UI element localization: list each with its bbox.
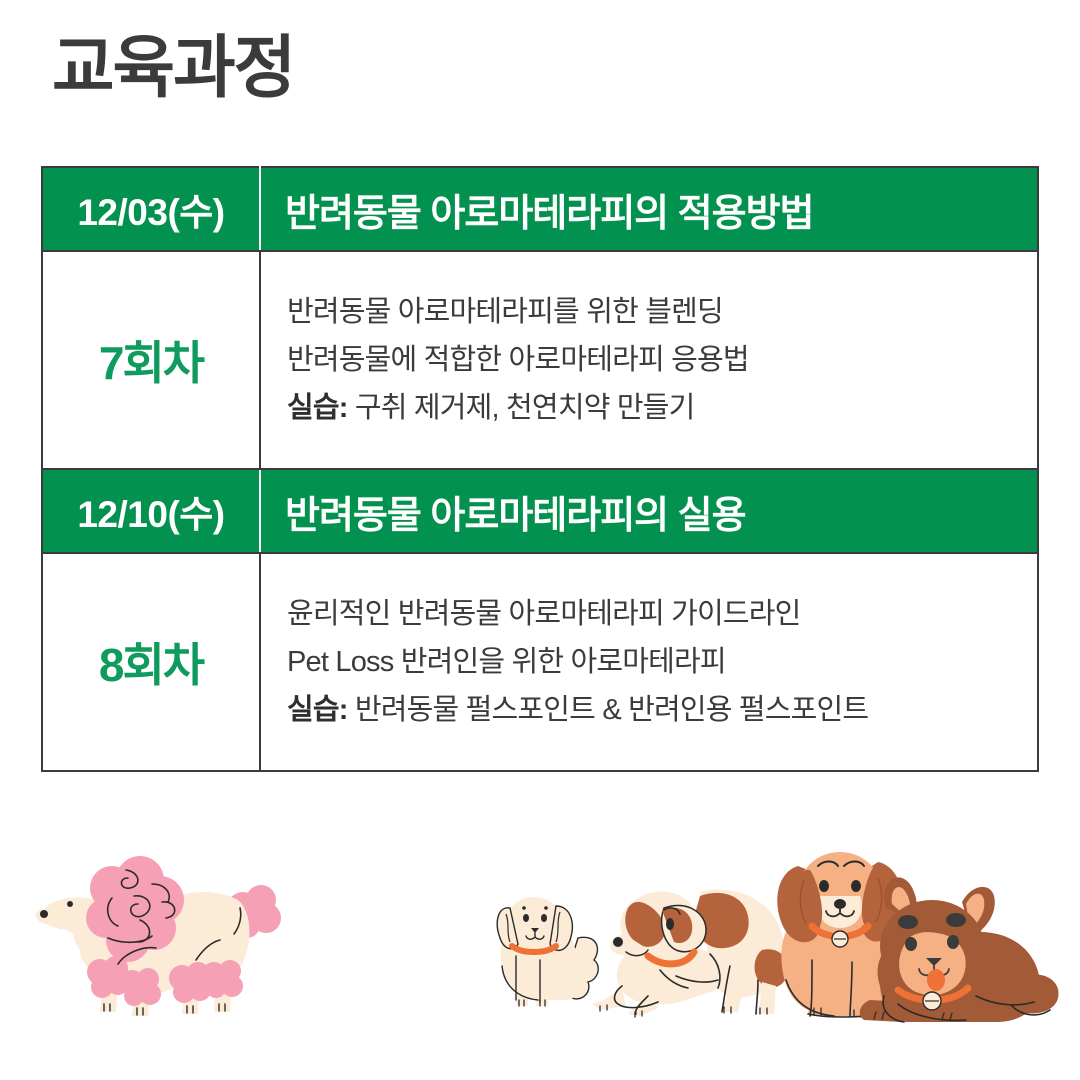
content-line: 실습: 구취 제거제, 천연치약 만들기: [287, 384, 1037, 432]
content-line-text: 반려동물 아로마테라피를 위한 블렌딩: [287, 296, 723, 328]
content-line-label: 실습:: [287, 392, 348, 424]
schedule-date-1: 12/10(수): [42, 469, 260, 553]
content-line: Pet Loss 반려인을 위한 아로마테라피: [287, 638, 1037, 686]
content-line: 반려동물에 적합한 아로마테라피 응용법: [287, 336, 1037, 384]
content-line-text: 윤리적인 반려동물 아로마테라피 가이드라인: [287, 598, 801, 630]
schedule-header-row: 12/03(수) 반려동물 아로마테라피의 적용방법: [42, 167, 1038, 251]
schedule-body-row: 8회차 윤리적인 반려동물 아로마테라피 가이드라인 Pet Loss 반려인을…: [42, 553, 1038, 771]
schedule-topic-1: 반려동물 아로마테라피의 실용: [260, 469, 1038, 553]
course-schedule-table: 12/03(수) 반려동물 아로마테라피의 적용방법 7회차 반려동물 아로마테…: [41, 166, 1039, 772]
small-cream-dog-icon: [497, 897, 598, 1006]
schedule-content-0: 반려동물 아로마테라피를 위한 블렌딩 반려동물에 적합한 아로마테라피 응용법…: [260, 251, 1038, 469]
pink-poodle-icon: [36, 856, 281, 1016]
schedule-header-row: 12/10(수) 반려동물 아로마테라피의 실용: [42, 469, 1038, 553]
schedule-date-0: 12/03(수): [42, 167, 260, 251]
schedule-content-1: 윤리적인 반려동물 아로마테라피 가이드라인 Pet Loss 반려인을 위한 …: [260, 553, 1038, 771]
content-line-text: Pet Loss 반려인을 위한 아로마테라피: [287, 646, 726, 678]
content-line: 윤리적인 반려동물 아로마테라피 가이드라인: [287, 590, 1037, 638]
content-line-label: 실습:: [287, 694, 348, 726]
schedule-topic-0: 반려동물 아로마테라피의 적용방법: [260, 167, 1038, 251]
schedule-body-row: 7회차 반려동물 아로마테라피를 위한 블렌딩 반려동물에 적합한 아로마테라피…: [42, 251, 1038, 469]
spotted-playbow-dog-icon: [592, 885, 788, 1017]
content-line: 실습: 반려동물 펄스포인트 & 반려인용 펄스포인트: [287, 686, 1037, 734]
content-line-text: 반려동물 펄스포인트 & 반려인용 펄스포인트: [348, 694, 869, 726]
schedule-session-0: 7회차: [42, 251, 260, 469]
content-line-text: 구취 제거제, 천연치약 만들기: [348, 392, 695, 424]
brown-lying-dog-icon: [860, 877, 1059, 1022]
page-root: 교육과정 12/03(수) 반려동물 아로마테라피의 적용방법 7회차 반려동물…: [0, 0, 1080, 1080]
schedule-session-1: 8회차: [42, 553, 260, 771]
dogs-illustration: [0, 800, 1080, 1080]
page-title: 교육과정: [52, 34, 294, 102]
content-line-text: 반려동물에 적합한 아로마테라피 응용법: [287, 344, 749, 376]
content-line: 반려동물 아로마테라피를 위한 블렌딩: [287, 288, 1037, 336]
